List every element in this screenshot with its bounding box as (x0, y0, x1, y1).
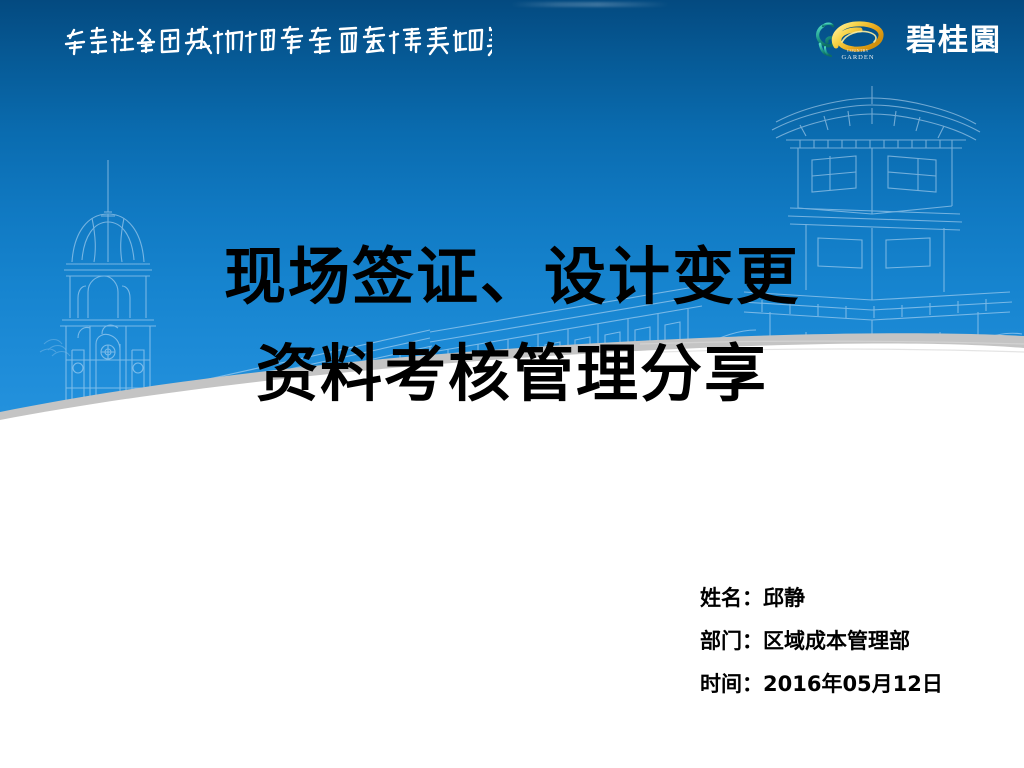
country-garden-phoenix-logo-icon: COUNTRY GARDEN (812, 16, 898, 66)
company-slogan: 希望社会因我们的存在而变得更加美好！ (62, 22, 492, 62)
top-light-streak (510, 2, 670, 7)
presentation-date-row: 时间：2016年05月12日 (700, 674, 943, 695)
brand-name-text: 碧桂園 (906, 26, 1002, 56)
presenter-department-row: 部门：区域成本管理部 (700, 631, 943, 652)
presenter-name-row: 姓名：邱静 (700, 588, 943, 609)
presenter-info: 姓名：邱静 部门：区域成本管理部 时间：2016年05月12日 (700, 588, 943, 695)
brand-logo: COUNTRY GARDEN 碧桂園 (812, 16, 1002, 66)
title-line-2: 资料考核管理分享 (0, 337, 1024, 410)
slide-title: 现场签证、设计变更 资料考核管理分享 (0, 240, 1024, 410)
presentation-slide: 希望社会因我们的存在而变得更加美好！ (0, 0, 1024, 768)
logo-latin-small: COUNTRY (847, 48, 869, 53)
logo-latin-name: GARDEN (841, 54, 874, 61)
title-line-1: 现场签证、设计变更 (0, 240, 1024, 313)
